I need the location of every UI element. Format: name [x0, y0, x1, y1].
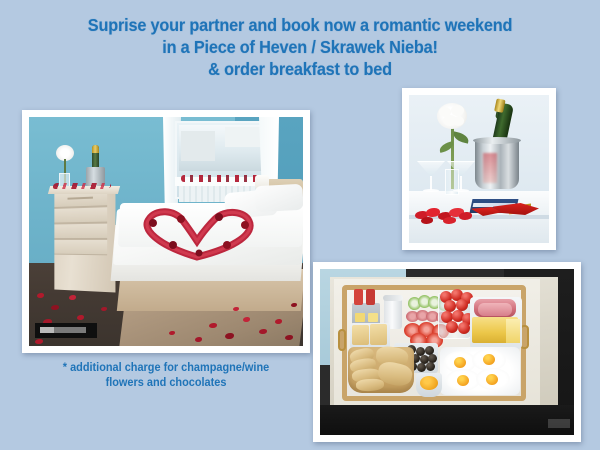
bedroom-rose-petal-heart [137, 205, 259, 261]
bedroom-bottle-foil [92, 145, 99, 153]
bedroom-windowsill-petals [181, 175, 261, 182]
bedroom-photo-image [29, 117, 303, 346]
jam-portion [420, 376, 438, 390]
romantic-bedroom-photo [22, 110, 310, 353]
bedroom-window-view-sky [225, 127, 261, 147]
breakfast-photo-image [320, 269, 574, 435]
bedroom-watermark [35, 323, 97, 338]
headline-line-3: & order breakfast to bed [21, 58, 579, 80]
breakfast-foreground-shadow [320, 405, 574, 435]
yogurt-cup-lid [383, 295, 403, 301]
champagne-ice-bucket [475, 139, 519, 189]
condiment-packet-2 [366, 289, 375, 305]
condiment-packet-1 [354, 289, 363, 305]
champagne-bucket-rim [473, 137, 521, 144]
bedroom-pillow-2 [254, 184, 303, 212]
photo-caption: * additional charge for champagne/wine f… [29, 361, 303, 390]
caption-line-1: * additional charge for champagne/wine [29, 361, 303, 376]
champagne-bucket-reflection [483, 153, 497, 183]
breakfast-watermark [548, 419, 570, 428]
headline-line-1: Suprise your partner and book now a roma… [21, 14, 579, 36]
ham-slice-top [478, 303, 512, 316]
caption-line-2: flowers and chocolates [29, 376, 303, 391]
champagne-white-flower [437, 103, 467, 129]
bedroom-dresser-petals [52, 183, 112, 189]
champagne-rose-petals [415, 207, 473, 223]
cheese-slice [506, 319, 520, 343]
tray-handle-left [338, 329, 346, 351]
breakfast-tray-photo [313, 262, 581, 442]
page-title: Suprise your partner and book now a roma… [21, 14, 579, 80]
champagne-setup-photo [402, 88, 556, 250]
bedroom-dresser [54, 189, 115, 292]
butter-portion-2 [368, 313, 378, 322]
bedroom-window-view-building [181, 131, 215, 161]
headline-line-2: in a Piece of Heven / Skrawek Nieba! [21, 36, 579, 58]
butter-portion-1 [355, 313, 365, 322]
champagne-photo-image [409, 95, 549, 243]
